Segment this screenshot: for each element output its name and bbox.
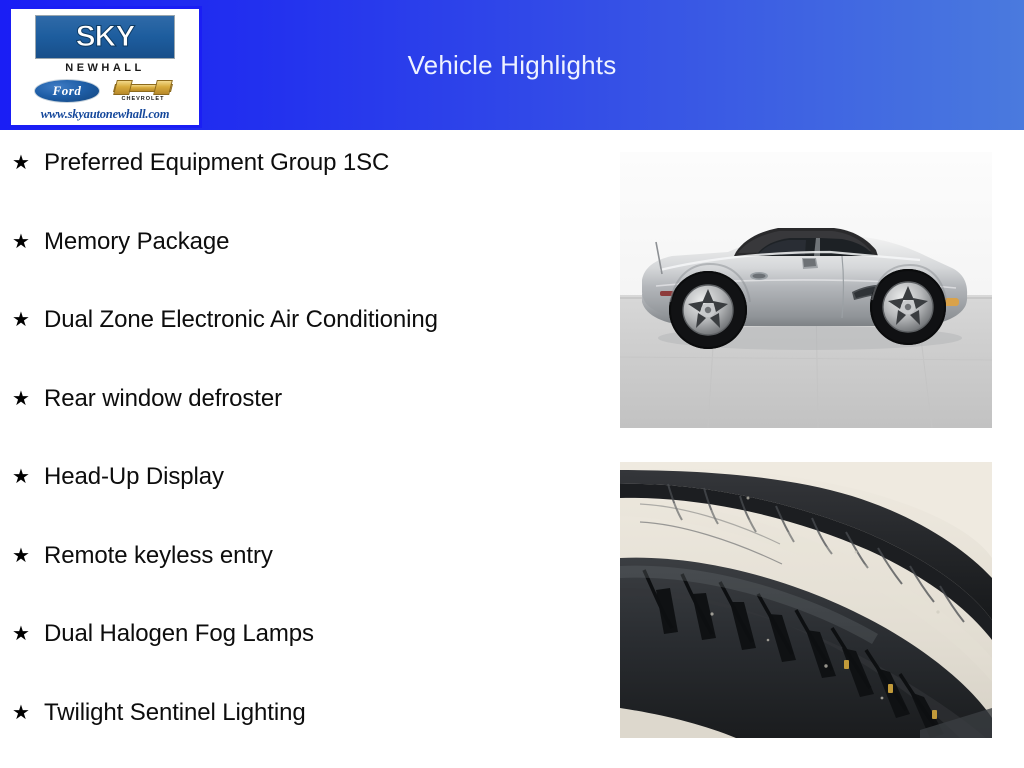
tire-tread-illustration	[620, 462, 992, 738]
star-bullet-icon: ★	[12, 619, 44, 649]
list-item-label: Head-Up Display	[44, 462, 224, 492]
ford-oval-icon: Ford	[34, 79, 100, 103]
list-item-label: Dual Halogen Fog Lamps	[44, 619, 314, 649]
bowtie-wing-left	[113, 80, 133, 95]
star-bullet-icon: ★	[12, 541, 44, 571]
star-bullet-icon: ★	[12, 698, 44, 728]
chevrolet-badge: CHEVROLET	[110, 80, 176, 102]
tire-tread-photo	[620, 462, 992, 738]
vehicle-profile-photo	[620, 152, 992, 428]
star-bullet-icon: ★	[12, 305, 44, 335]
list-item-label: Twilight Sentinel Lighting	[44, 698, 306, 728]
list-item: ★ Head-Up Display	[0, 462, 600, 541]
dealer-website-text: www.skyautonewhall.com	[41, 107, 170, 122]
list-item-label: Memory Package	[44, 227, 229, 257]
dealer-logo: SKY NEWHALL Ford CHEVROLET www.skyautone…	[8, 6, 202, 128]
bowtie-wing-right	[153, 80, 173, 95]
list-item: ★ Preferred Equipment Group 1SC	[0, 148, 600, 227]
list-item: ★ Dual Halogen Fog Lamps	[0, 619, 600, 698]
list-item: ★ Memory Package	[0, 227, 600, 306]
star-bullet-icon: ★	[12, 148, 44, 178]
vehicle-profile-illustration	[620, 152, 992, 428]
list-item-label: Preferred Equipment Group 1SC	[44, 148, 389, 178]
list-item: ★ Dual Zone Electronic Air Conditioning	[0, 305, 600, 384]
list-item-label: Remote keyless entry	[44, 541, 273, 571]
brand-badge-row: Ford CHEVROLET	[17, 78, 193, 104]
list-item: ★ Rear window defroster	[0, 384, 600, 463]
sky-logo-plate: SKY	[35, 15, 175, 59]
dealer-location-text: NEWHALL	[65, 62, 145, 74]
feature-list: ★ Preferred Equipment Group 1SC ★ Memory…	[0, 148, 600, 768]
list-item-label: Rear window defroster	[44, 384, 282, 414]
list-item: ★ Remote keyless entry	[0, 541, 600, 620]
star-bullet-icon: ★	[12, 462, 44, 492]
chevrolet-badge-label: CHEVROLET	[122, 96, 165, 102]
chevrolet-bowtie-icon	[114, 80, 172, 95]
sky-logo-text: SKY	[76, 22, 135, 52]
ford-badge-label: Ford	[53, 83, 82, 99]
star-bullet-icon: ★	[12, 227, 44, 257]
star-bullet-icon: ★	[12, 384, 44, 414]
list-item: ★ Twilight Sentinel Lighting	[0, 698, 600, 768]
list-item-label: Dual Zone Electronic Air Conditioning	[44, 305, 438, 335]
vehicle-highlights-slide: Vehicle Highlights SKY NEWHALL Ford CHEV…	[0, 0, 1024, 768]
